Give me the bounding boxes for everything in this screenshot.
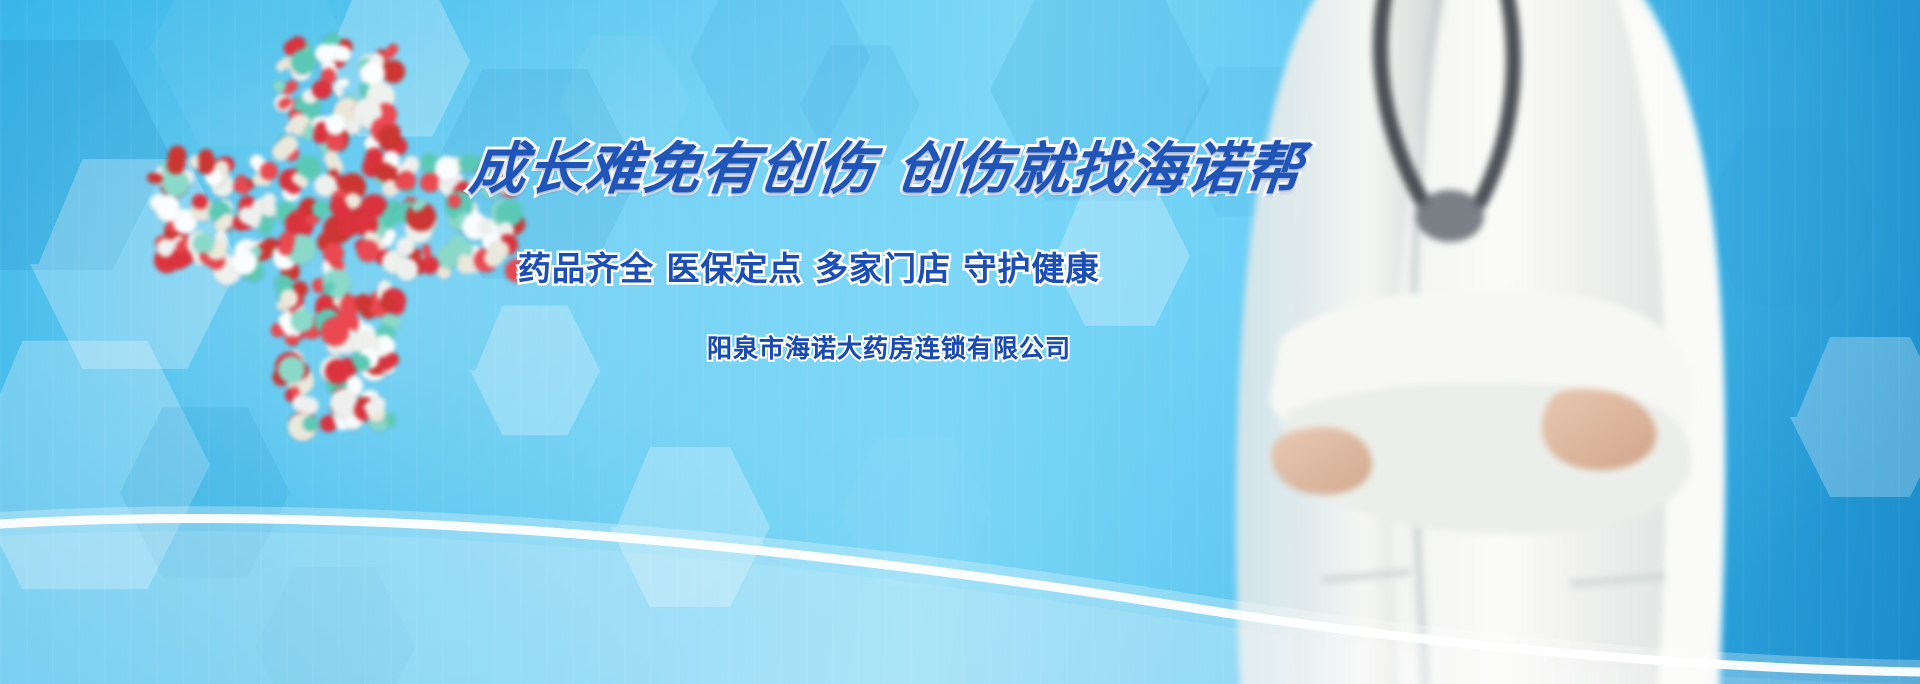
pharmacy-banner: 成长难免有创伤 创伤就找海诺帮 成长难免有创伤 创伤就找海诺帮 药品齐全 医保定…	[0, 0, 1920, 684]
banner-headline: 成长难免有创伤 创伤就找海诺帮 成长难免有创伤 创伤就找海诺帮	[467, 142, 1306, 198]
pharmacist-svg	[1070, 0, 1920, 684]
pharmacist-figure	[1070, 0, 1920, 684]
banner-subheadline: 药品齐全 医保定点 多家门店 守护健康 药品齐全 医保定点 多家门店 守护健康	[518, 252, 1099, 285]
banner-company-name: 阳泉市海诺大药房连锁有限公司 阳泉市海诺大药房连锁有限公司	[707, 336, 1071, 361]
pill-cross-graphic	[150, 40, 520, 430]
